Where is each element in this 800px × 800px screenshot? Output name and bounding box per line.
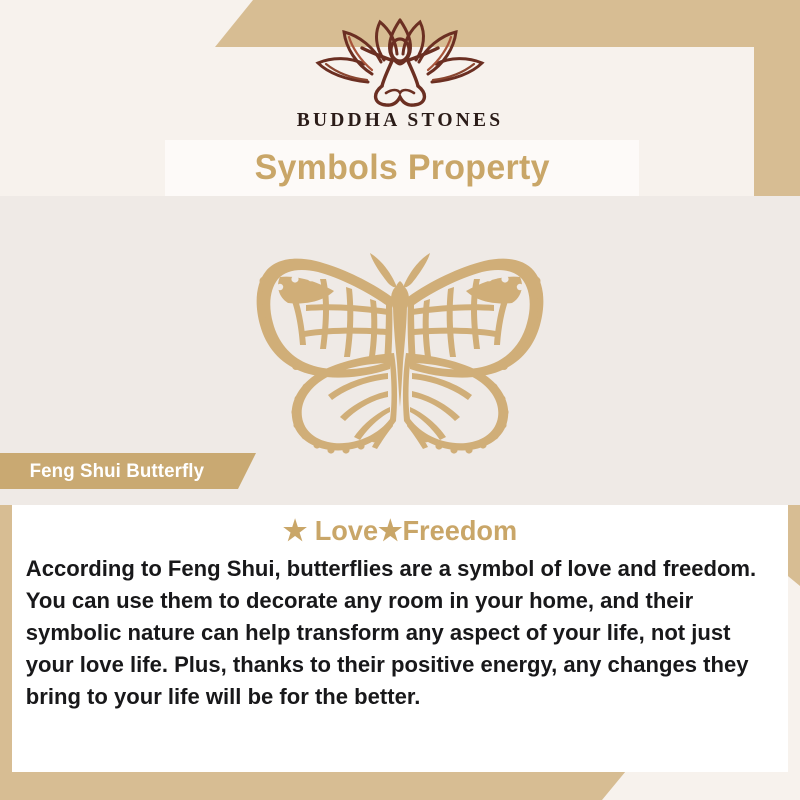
symbols-property-infographic: BUDDHA STONES Symbols Property: [0, 0, 800, 800]
brand-header: BUDDHA STONES: [0, 0, 800, 140]
description-card: ★ Love★Freedom According to Feng Shui, b…: [12, 505, 788, 772]
section-ribbon: Feng Shui Butterfly: [0, 453, 256, 489]
ribbon-label: Feng Shui Butterfly: [30, 460, 204, 483]
page-title-band: Symbols Property: [165, 140, 639, 196]
subheading: ★ Love★Freedom: [24, 505, 777, 547]
body-paragraph: According to Feng Shui, butterflies are …: [12, 553, 776, 713]
logo: BUDDHA STONES: [297, 8, 504, 132]
lotus-meditation-icon: [312, 16, 488, 108]
butterfly-icon: [220, 245, 580, 460]
page-title: Symbols Property: [254, 148, 549, 188]
brand-wordmark: BUDDHA STONES: [297, 110, 504, 132]
